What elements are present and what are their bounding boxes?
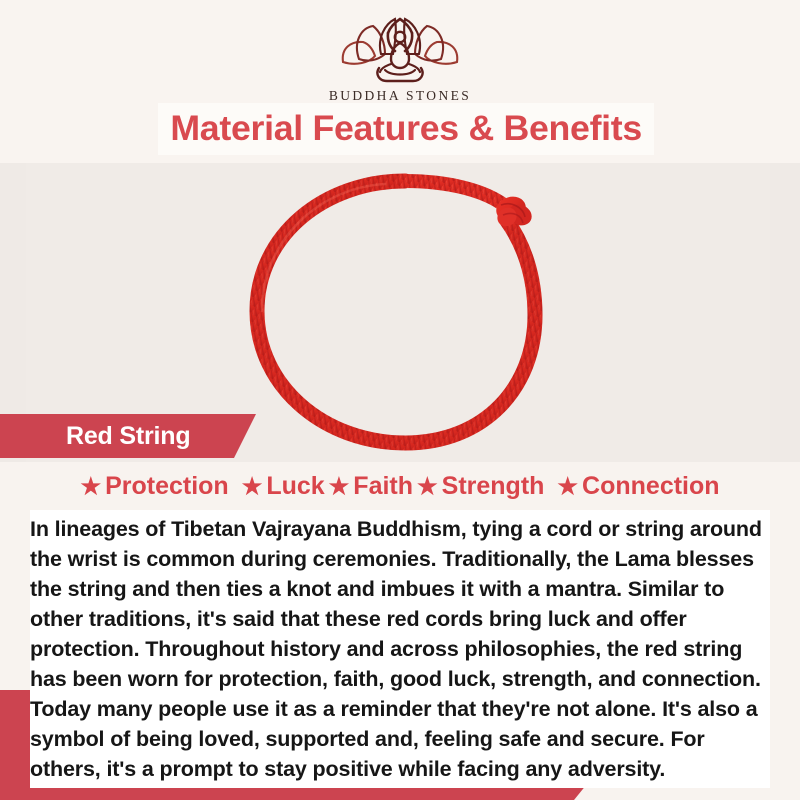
brand-name: BUDDHA STONES	[300, 88, 500, 104]
benefit-item-luck: ★ Luck	[240, 472, 327, 501]
benefit-item-faith: ★ Faith	[327, 472, 415, 501]
benefit-item-protection: ★ Protection	[78, 472, 239, 501]
benefit-label: Protection	[105, 472, 229, 501]
product-label-text: Red String	[66, 422, 190, 451]
benefit-item-connection: ★ Connection	[555, 472, 721, 501]
benefit-label: Luck	[266, 472, 324, 501]
benefit-label: Strength	[442, 472, 545, 501]
star-icon: ★	[329, 475, 350, 498]
red-braided-cord-bracelet	[235, 165, 575, 455]
description-text: In lineages of Tibetan Vajrayana Buddhis…	[30, 514, 770, 784]
star-icon: ★	[242, 475, 263, 498]
benefit-item-strength: ★ Strength	[415, 472, 555, 501]
infographic-page: BUDDHA STONES Material Features & Benefi…	[0, 0, 800, 800]
star-icon: ★	[557, 475, 578, 498]
product-label-banner: Red String	[0, 414, 256, 458]
title-banner: Material Features & Benefits	[158, 103, 654, 155]
star-icon: ★	[417, 475, 438, 498]
brand-logo: BUDDHA STONES	[300, 14, 500, 104]
description-block: In lineages of Tibetan Vajrayana Buddhis…	[30, 510, 770, 788]
benefit-label: Connection	[582, 472, 720, 501]
lotus-meditation-icon	[300, 14, 500, 86]
star-icon: ★	[80, 475, 101, 498]
benefit-label: Faith	[353, 472, 413, 501]
page-title: Material Features & Benefits	[170, 109, 642, 149]
benefits-row: ★ Protection ★ Luck ★ Faith ★ Strength ★…	[0, 462, 800, 510]
